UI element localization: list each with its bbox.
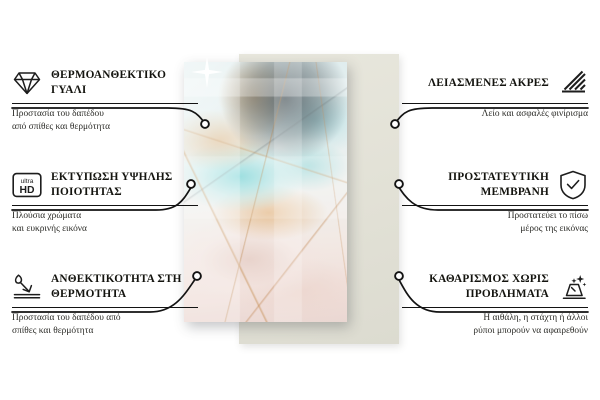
feature-divider [12, 103, 198, 104]
feature-description: Λείο και ασφαλές φινίρισμα [402, 108, 588, 121]
feature-description: Προστασία του δαπέδου από σπίθες και θερ… [12, 312, 198, 339]
feature-header: ΚΑΘΑΡΙΣΜΟΣ ΧΩΡΙΣ ΠΡΟΒΛΗΜΑΤΑ [402, 270, 588, 304]
polished-edges-icon [558, 68, 588, 98]
feature-header: ΛΕΙΑΣΜΕΝΕΣ ΑΚΡΕΣ [402, 66, 588, 100]
diamond-icon [12, 68, 42, 98]
connector-dot-left-1 [201, 120, 209, 128]
shield-check-icon [558, 170, 588, 200]
infographic-canvas: ΘΕΡΜΟΑΝΘΕΚΤΙΚΟ ΓΥΑΛΙ Προστασία του δαπέδ… [0, 0, 600, 400]
feature-header: ΘΕΡΜΟΑΝΘΕΚΤΙΚΟ ΓΥΑΛΙ [12, 66, 198, 100]
feature-description: Προστατεύει το πίσω μέρος της εικόνας [402, 210, 588, 237]
feature-right-easy-cleaning[interactable]: ΚΑΘΑΡΙΣΜΟΣ ΧΩΡΙΣ ΠΡΟΒΛΗΜΑΤΑ Η αιθάλη, η … [402, 270, 588, 339]
feature-title: ΑΝΘΕΚΤΙΚΟΤΗΤΑ ΣΤΗ ΘΕΡΜΟΤΗΤΑ [51, 272, 198, 302]
feature-left-heat-durability[interactable]: ΑΝΘΕΚΤΙΚΟΤΗΤΑ ΣΤΗ ΘΕΡΜΟΤΗΤΑ Προστασία το… [12, 270, 198, 339]
svg-text:ultra: ultra [21, 178, 34, 185]
easy-clean-icon [558, 272, 588, 302]
feature-header: ultra HD ΕΚΤΥΠΩΣΗ ΥΨΗΛΗΣ ΠΟΙΟΤΗΤΑΣ [12, 168, 198, 202]
feature-divider [12, 205, 198, 206]
feature-divider [402, 103, 588, 104]
feature-left-heat-resistant-glass[interactable]: ΘΕΡΜΟΑΝΘΕΚΤΙΚΟ ΓΥΑΛΙ Προστασία του δαπέδ… [12, 66, 198, 135]
feature-header: ΑΝΘΕΚΤΙΚΟΤΗΤΑ ΣΤΗ ΘΕΡΜΟΤΗΤΑ [12, 270, 198, 304]
feature-description: Η αιθάλη, η στάχτη ή άλλοι ρύποι μπορούν… [402, 312, 588, 339]
feature-title: ΕΚΤΥΠΩΣΗ ΥΨΗΛΗΣ ΠΟΙΟΤΗΤΑΣ [51, 170, 198, 200]
feature-description: Προστασία του δαπέδου από σπίθες και θερ… [12, 108, 198, 135]
feature-left-high-quality-print[interactable]: ultra HD ΕΚΤΥΠΩΣΗ ΥΨΗΛΗΣ ΠΟΙΟΤΗΤΑΣ Πλούσ… [12, 168, 198, 237]
feature-description: Πλούσια χρώματα και ευκρινής εικόνα [12, 210, 198, 237]
feature-right-protective-film[interactable]: ΠΡΟΣΤΑΤΕΥΤΙΚΗ ΜΕΜΒΡΑΝΗ Προστατεύει το πί… [402, 168, 588, 237]
feature-title: ΠΡΟΣΤΑΤΕΥΤΙΚΗ ΜΕΜΒΡΑΝΗ [402, 170, 549, 200]
heat-resistance-icon [12, 272, 42, 302]
feature-title: ΚΑΘΑΡΙΣΜΟΣ ΧΩΡΙΣ ΠΡΟΒΛΗΜΑΤΑ [402, 272, 549, 302]
svg-text:HD: HD [19, 185, 35, 196]
feature-divider [12, 307, 198, 308]
connector-dot-right-1 [391, 120, 399, 128]
ultra-hd-icon: ultra HD [12, 170, 42, 200]
feature-header: ΠΡΟΣΤΑΤΕΥΤΙΚΗ ΜΕΜΒΡΑΝΗ [402, 168, 588, 202]
feature-right-polished-edges[interactable]: ΛΕΙΑΣΜΕΝΕΣ ΑΚΡΕΣ Λείο και ασφαλές φινίρι… [402, 66, 588, 121]
feature-divider [402, 205, 588, 206]
feature-title: ΛΕΙΑΣΜΕΝΕΣ ΑΚΡΕΣ [428, 76, 549, 91]
feature-title: ΘΕΡΜΟΑΝΘΕΚΤΙΚΟ ΓΥΑΛΙ [51, 68, 198, 98]
feature-divider [402, 307, 588, 308]
